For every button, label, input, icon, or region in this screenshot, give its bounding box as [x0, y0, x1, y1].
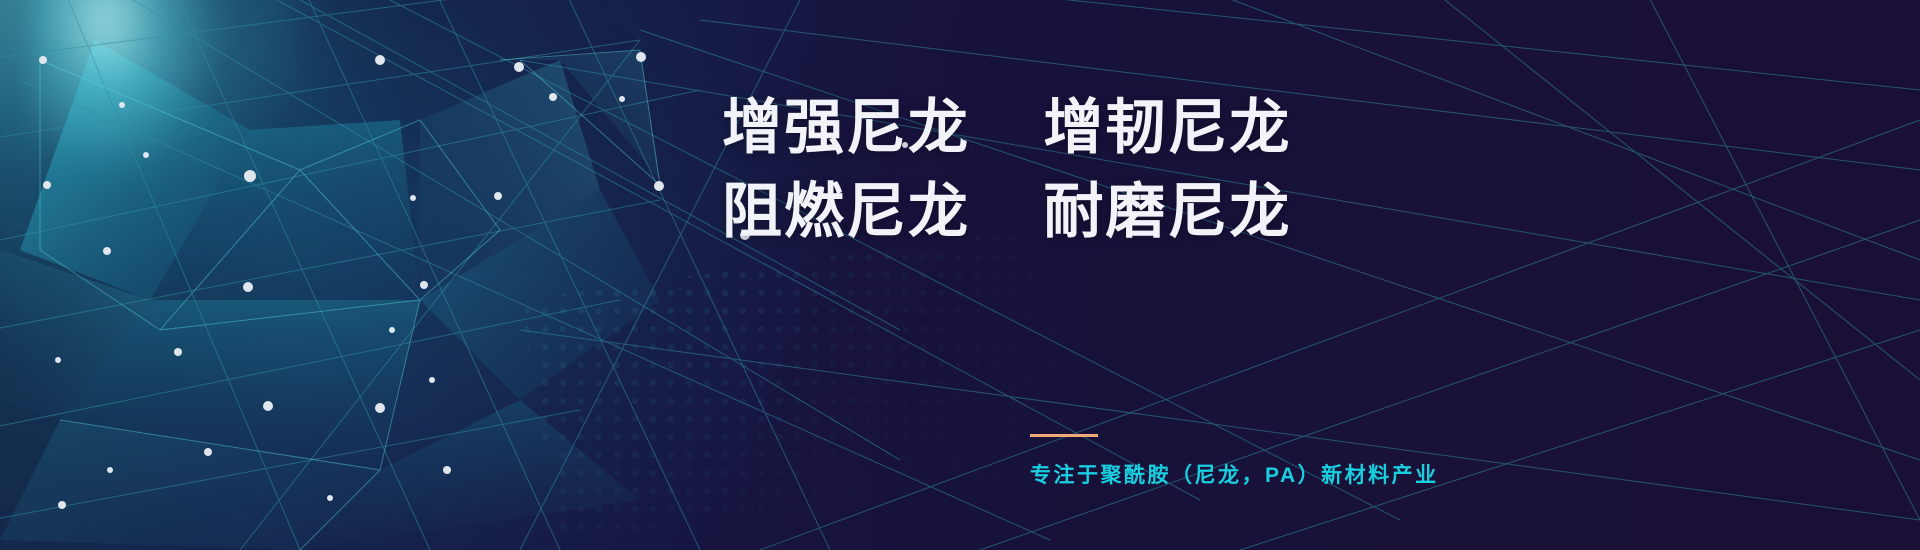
headline-line-1-left: 增强尼龙 [722, 94, 970, 161]
accent-rule-divider [1030, 434, 1098, 437]
headline-line-2-left: 阻燃尼龙 [722, 178, 970, 245]
headline-line-2: 阻燃尼龙 耐磨尼龙 [722, 170, 1542, 254]
headline-line-2-right: 耐磨尼龙 [1043, 178, 1291, 245]
subtitle-block: 专注于聚酰胺（尼龙，PA）新材料产业 [1030, 434, 1470, 489]
subtitle-text: 专注于聚酰胺（尼龙，PA）新材料产业 [1030, 459, 1470, 489]
headline-block: 增强尼龙 增韧尼龙 阻燃尼龙 耐磨尼龙 [722, 86, 1542, 254]
network-node-dots [0, 0, 1920, 550]
hero-banner: 增强尼龙 增韧尼龙 阻燃尼龙 耐磨尼龙 专注于聚酰胺（尼龙，PA）新材料产业 [0, 0, 1920, 550]
headline-line-1-right: 增韧尼龙 [1043, 94, 1291, 161]
headline-line-1: 增强尼龙 增韧尼龙 [722, 86, 1542, 170]
